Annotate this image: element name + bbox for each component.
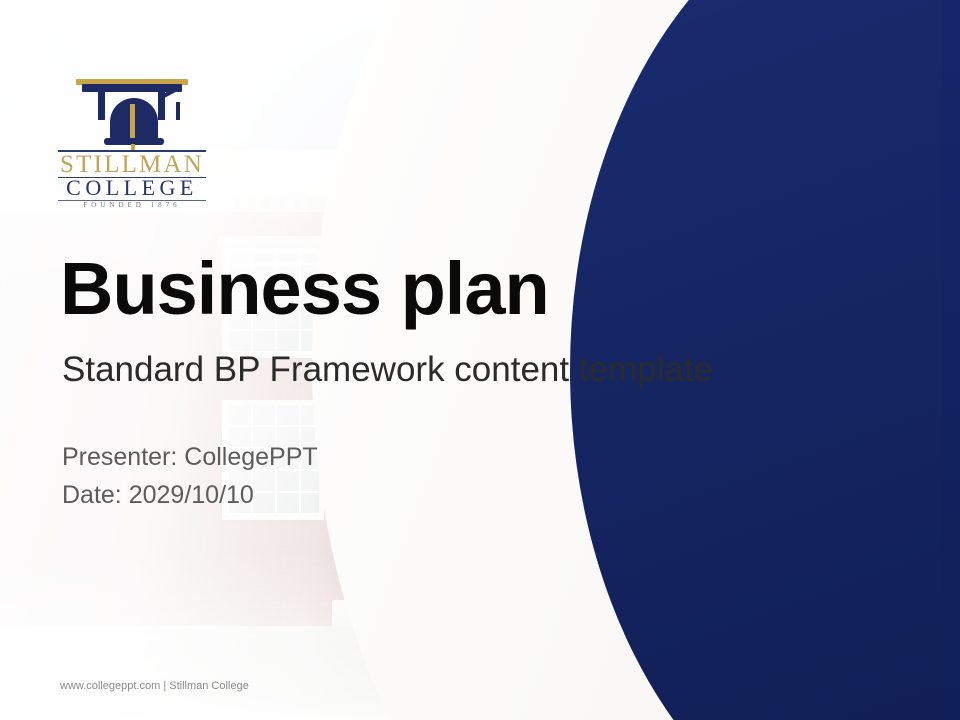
- stillman-college-logo: STILLMAN COLLEGE FOUNDED 1876: [58, 72, 206, 190]
- presenter-line: Presenter: CollegePPT: [62, 443, 318, 472]
- slide-subtitle: Standard BP Framework content template: [62, 350, 713, 390]
- bell-post-left: [98, 90, 105, 120]
- slide-footer: www.collegeppt.com | Stillman College: [60, 680, 249, 692]
- date-line: Date: 2029/10/10: [62, 481, 254, 510]
- logo-founded-text: FOUNDED 1876: [58, 201, 206, 209]
- presentation-slide: THE SHEPPARD LIBRARY: [0, 0, 960, 720]
- logo-name-college: COLLEGE: [58, 176, 206, 200]
- slide-title: Business plan: [60, 252, 549, 326]
- bell-stripe: [130, 104, 135, 138]
- bell-crank-rod: [176, 102, 180, 120]
- right-edge-strip: [942, 0, 960, 720]
- liberty-bell-icon: [72, 72, 192, 150]
